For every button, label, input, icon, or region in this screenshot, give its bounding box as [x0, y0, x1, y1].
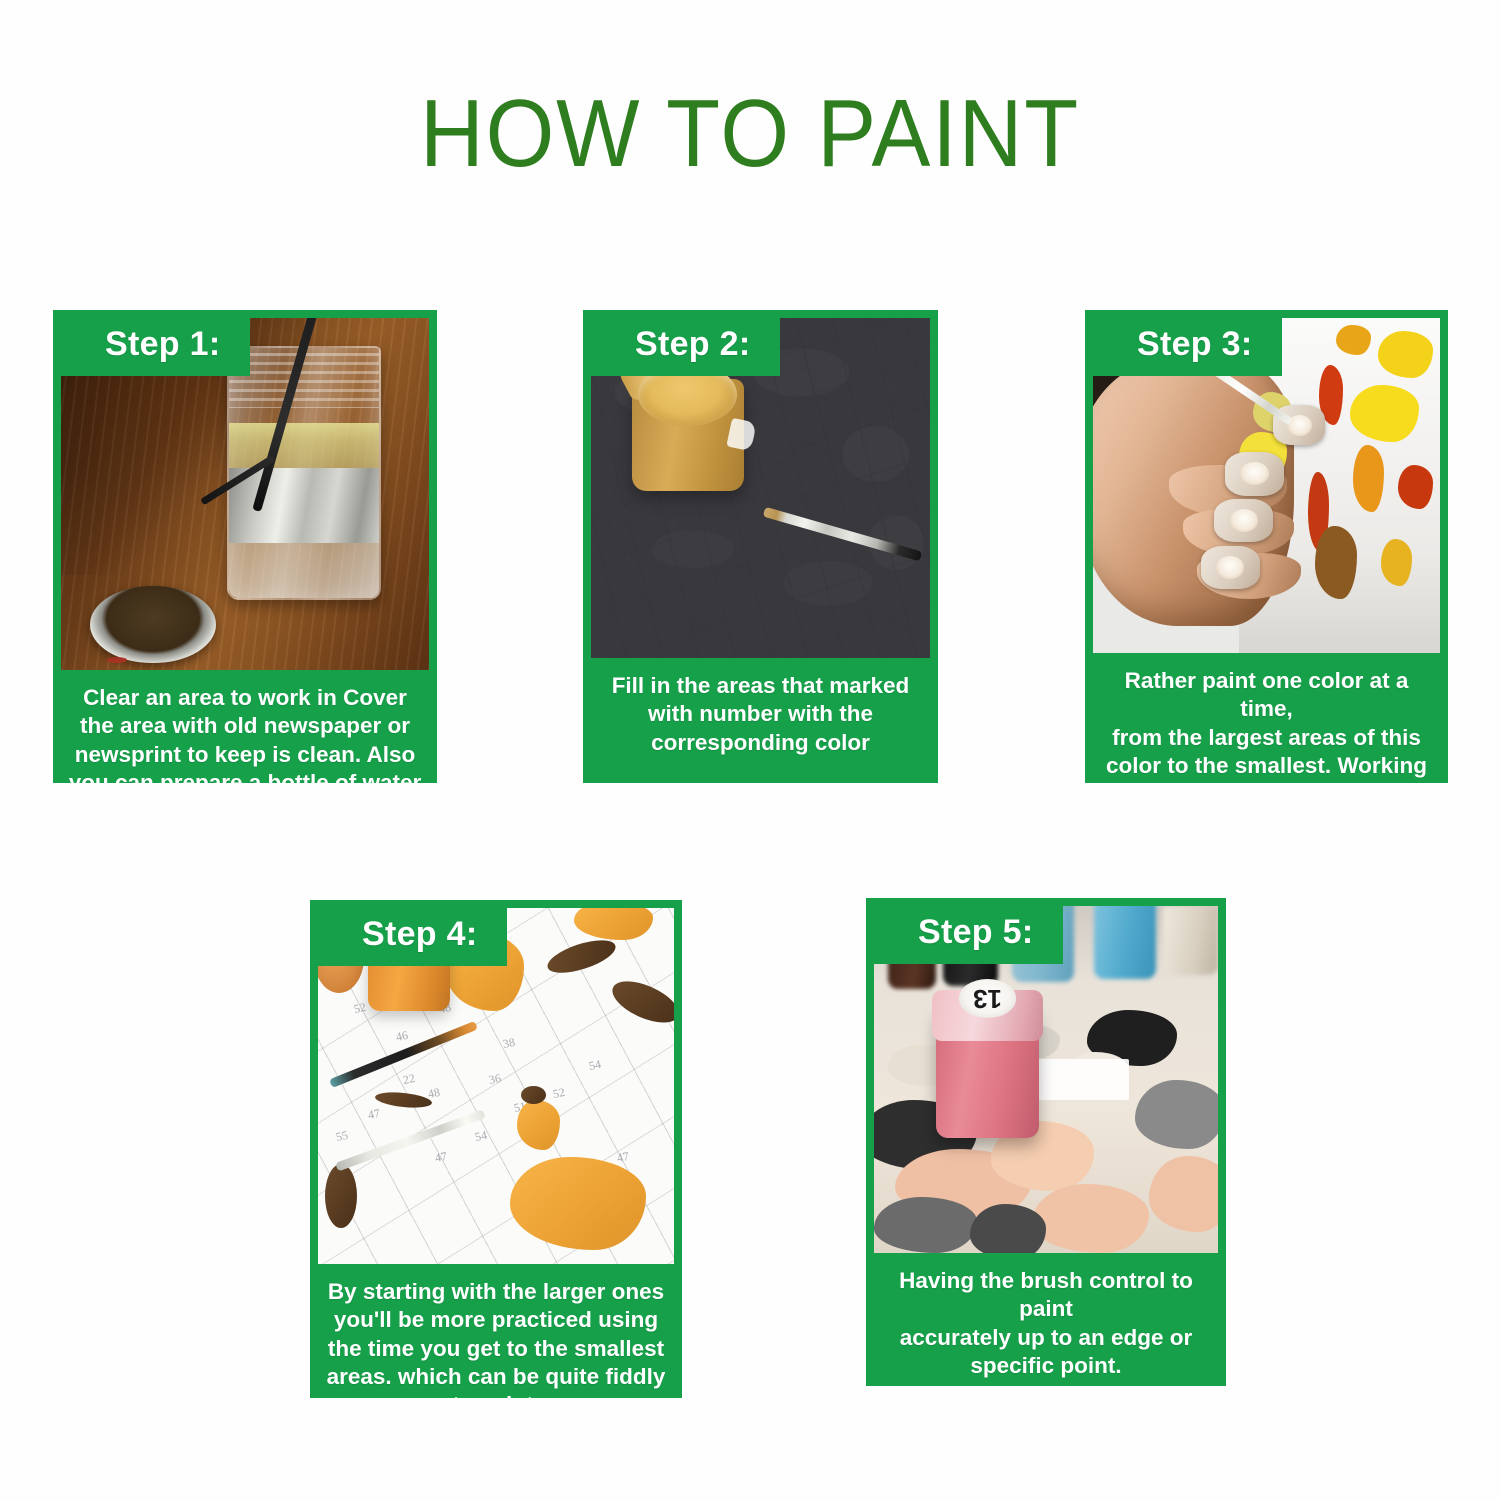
step-card-3: Step 3: Rather paint one color at a time…	[1085, 310, 1448, 783]
step-2-badge: Step 2:	[591, 318, 780, 376]
step-2-photo: 1617 1615 1116 2120 1416 77 2116 1921 14…	[591, 318, 930, 658]
step-4-caption: By starting with the larger ones you'll …	[310, 1264, 682, 1398]
step-5-photo: 13 Step 5:	[874, 906, 1218, 1253]
pot-number-label: 13	[959, 979, 1017, 1018]
step-4-photo: 5248 4647 5547 3622 4838 5154 4754 52	[318, 908, 674, 1264]
step-1-caption: Clear an area to work in Cover the area …	[53, 670, 437, 783]
step-3-badge: Step 3:	[1093, 318, 1282, 376]
gold-paint-pot-icon	[632, 379, 744, 491]
page-title: HOW TO PAINT	[60, 86, 1440, 182]
step-2-caption: Fill in the areas that marked with numbe…	[583, 658, 938, 773]
jar-lid-icon	[90, 586, 215, 663]
paint-pot-icon	[1163, 906, 1218, 975]
step-card-2: 1617 1615 1116 2120 1416 77 2116 1921 14…	[583, 310, 938, 783]
step-4-badge: Step 4:	[318, 908, 507, 966]
paint-pot-icon	[1225, 452, 1284, 496]
step-1-badge: Step 1:	[61, 318, 250, 376]
step-card-4: 5248 4647 5547 3622 4838 5154 4754 52	[310, 900, 682, 1398]
paint-pot-icon	[1201, 546, 1260, 590]
pot-number-text: 13	[973, 983, 1002, 1014]
paint-pot-icon	[1214, 499, 1273, 543]
pink-paint-pot-icon: 13	[936, 1010, 1039, 1138]
step-3-photo: Step 3:	[1093, 318, 1440, 653]
step-3-caption: Rather paint one color at a time, from t…	[1085, 653, 1448, 783]
step-5-badge: Step 5:	[874, 906, 1063, 964]
step-card-1: Step 1: Clear an area to work in Cover t…	[53, 310, 437, 783]
paint-pot-icon	[1094, 906, 1156, 979]
step-5-caption: Having the brush control to paint accura…	[866, 1253, 1226, 1386]
step-card-5: 13 Step 5: Having the brush control to p…	[866, 898, 1226, 1386]
infographic-page: HOW TO PAINT Step 1: Clear an area to wo…	[0, 0, 1500, 1500]
step-1-photo: Step 1:	[61, 318, 429, 670]
